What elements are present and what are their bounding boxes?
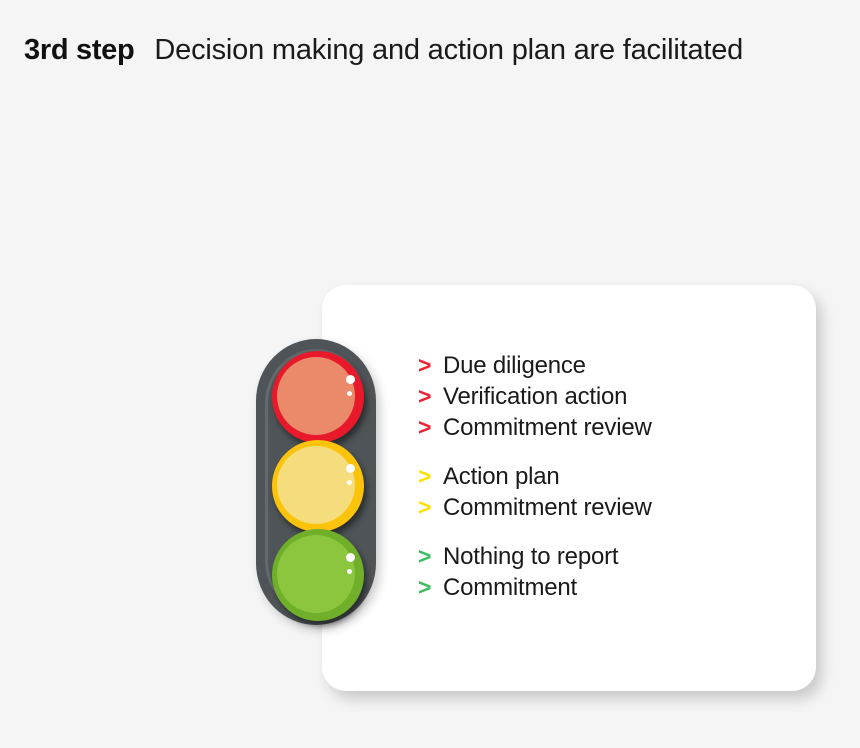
list-item-label: Due diligence [443, 350, 586, 381]
step-description: Decision making and action plan are faci… [154, 34, 743, 67]
chevron-right-icon: > [418, 492, 443, 523]
green-light-highlight-large [346, 553, 355, 562]
chevron-right-icon: > [418, 572, 443, 603]
yellow-light [272, 440, 364, 532]
chevron-right-icon: > [418, 412, 443, 443]
list-group-green: > Nothing to report > Commitment [418, 541, 798, 603]
yellow-light-highlight-large [346, 464, 355, 473]
green-light-highlight-small [347, 569, 352, 574]
list-item: > Nothing to report [418, 541, 798, 572]
green-light-inner [277, 535, 355, 613]
yellow-light-highlight-small [347, 480, 352, 485]
green-light [272, 529, 364, 621]
list-item: > Commitment [418, 572, 798, 603]
list-item: > Due diligence [418, 350, 798, 381]
list-item: > Action plan [418, 461, 798, 492]
list-item-label: Commitment [443, 572, 577, 603]
list-item-label: Nothing to report [443, 541, 618, 572]
list-item-label: Verification action [443, 381, 627, 412]
list-item-label: Commitment review [443, 492, 652, 523]
list-item: > Verification action [418, 381, 798, 412]
red-light-highlight-small [347, 391, 352, 396]
list-group-yellow: > Action plan > Commitment review [418, 461, 798, 523]
chevron-right-icon: > [418, 461, 443, 492]
red-light-highlight-large [346, 375, 355, 384]
traffic-light-illustration [256, 339, 380, 627]
chevron-right-icon: > [418, 381, 443, 412]
list-item-label: Commitment review [443, 412, 652, 443]
list-item-label: Action plan [443, 461, 560, 492]
list-group-red: > Due diligence > Verification action > … [418, 350, 798, 443]
list-item: > Commitment review [418, 412, 798, 443]
chevron-right-icon: > [418, 541, 443, 572]
chevron-right-icon: > [418, 350, 443, 381]
red-light-inner [277, 357, 355, 435]
page-title: 3rd step Decision making and action plan… [24, 34, 743, 67]
action-list: > Due diligence > Verification action > … [418, 350, 798, 603]
list-item: > Commitment review [418, 492, 798, 523]
red-light [272, 351, 364, 443]
step-label: 3rd step [24, 34, 134, 67]
yellow-light-inner [277, 446, 355, 524]
